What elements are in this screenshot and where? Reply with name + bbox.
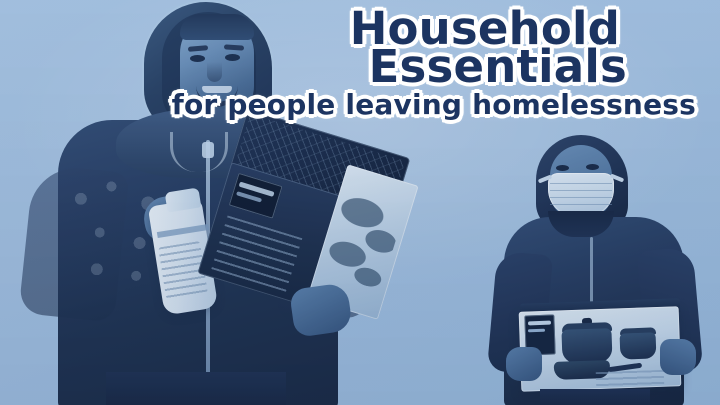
large-pot	[561, 328, 612, 364]
left-eye	[556, 165, 569, 171]
cookware-box-brand-line-bottom	[528, 329, 545, 333]
headline-block: Household Essentials for people leaving …	[0, 8, 712, 118]
headline-subtitle: for people leaving homelessness	[0, 92, 712, 118]
face-mask-pleats	[550, 183, 612, 209]
right-hand-holding-box	[289, 282, 353, 338]
cookware-box-bottom-text	[596, 370, 665, 388]
right-person-figure	[492, 133, 707, 405]
cookware-box-brand-line-top	[528, 321, 551, 326]
right-person-legs	[540, 389, 650, 405]
promo-banner: Household Essentials for people leaving …	[0, 0, 720, 405]
left-person-legs	[106, 372, 286, 405]
right-hand-holding-box	[660, 339, 696, 375]
left-hand-holding-box	[506, 347, 542, 381]
right-eye	[586, 164, 599, 170]
small-pot	[620, 332, 657, 359]
